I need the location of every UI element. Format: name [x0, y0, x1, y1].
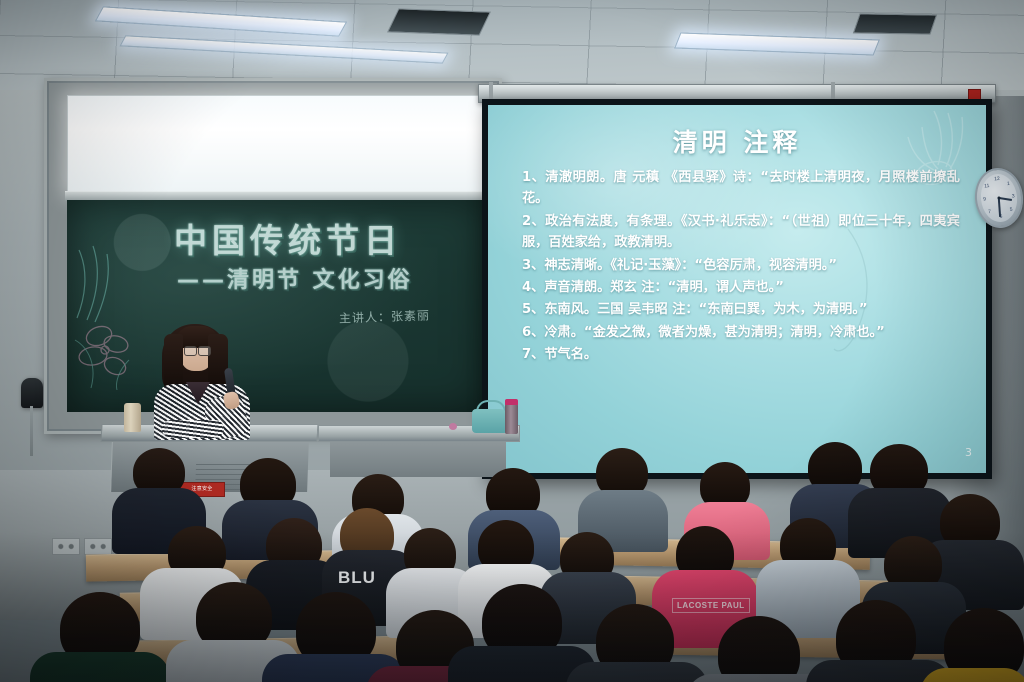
desk-cup — [124, 403, 141, 432]
projection-screen: 清明 注释 1、清澈明朗。唐 元稹 《西县驿》诗：“去时楼上清明夜，月照楼前撩乱… — [482, 99, 992, 479]
board-frame: 中国传统节日 ——清明节 文化习俗 主讲人：张素丽 — [44, 78, 502, 434]
instructor — [148, 320, 256, 432]
student-body — [566, 662, 708, 682]
slide-line-4: 4、声音清朗。郑玄 注：“清明，谓人声也。” — [522, 277, 960, 298]
student-head — [718, 616, 800, 682]
slide-body: 1、清澈明朗。唐 元稹 《西县驿》诗：“去时楼上清明夜，月照楼前撩乱花。 2、政… — [522, 167, 960, 366]
desk-small-object — [449, 423, 457, 430]
ceiling-vent-right — [853, 13, 937, 34]
desk-bag — [472, 409, 508, 433]
student-shirt-text: BLU — [338, 568, 376, 588]
slide-line-3: 3、神志清晰。《礼记·玉藻》：“色容厉肃，视容清明。” — [522, 255, 960, 276]
blackboard-title: 中国传统节日 — [123, 214, 453, 262]
desk-bottle — [505, 404, 518, 434]
classroom-photo-scene: 中国传统节日 ——清明节 文化习俗 主讲人：张素丽 — [0, 0, 1024, 682]
slide-title: 清明 注释 — [488, 123, 986, 159]
instructor-left-forearm — [162, 420, 224, 438]
student-body — [920, 668, 1024, 682]
instructor-glasses-icon — [184, 346, 211, 354]
ceiling-vent-left — [387, 8, 491, 35]
slide-line-2: 2、政治有法度，有条理。《汉书·礼乐志》：“（世祖）即位三十年，四夷宾服，百姓家… — [522, 211, 960, 254]
slide-line-5: 5、东南风。三国 吴韦昭 注：“东南曰巽，为木，为清明。” — [522, 299, 960, 320]
slide-line-7: 7、节气名。 — [522, 344, 960, 365]
slide-line-6: 6、冷肃。“金发之微，微者为燥，甚为清明；清明，冷肃也。” — [522, 322, 960, 343]
blackboard-signature: 主讲人：张素丽 — [339, 306, 431, 326]
audience-area: BLU LACOSTE PAUL — [0, 440, 1024, 682]
clock-face: 12 1 3 5 6 7 9 11 — [979, 172, 1020, 224]
blackboard: 中国传统节日 ——清明节 文化习俗 主讲人：张素丽 — [67, 200, 485, 412]
student-body — [30, 652, 170, 682]
slide-surface: 清明 注释 1、清澈明朗。唐 元稹 《西县驿》诗：“去时楼上清明夜，月照楼前撩乱… — [488, 105, 986, 473]
whiteboard-panel — [67, 95, 487, 193]
student-shirt-text: LACOSTE PAUL — [672, 598, 750, 613]
blackboard-subtitle: ——清明节 文化习俗 — [177, 262, 477, 294]
desk-bottle-cap — [505, 399, 518, 405]
wall-speaker-icon — [21, 378, 43, 408]
slide-line-1: 1、清澈明朗。唐 元稹 《西县驿》诗：“去时楼上清明夜，月照楼前撩乱花。 — [522, 167, 960, 210]
